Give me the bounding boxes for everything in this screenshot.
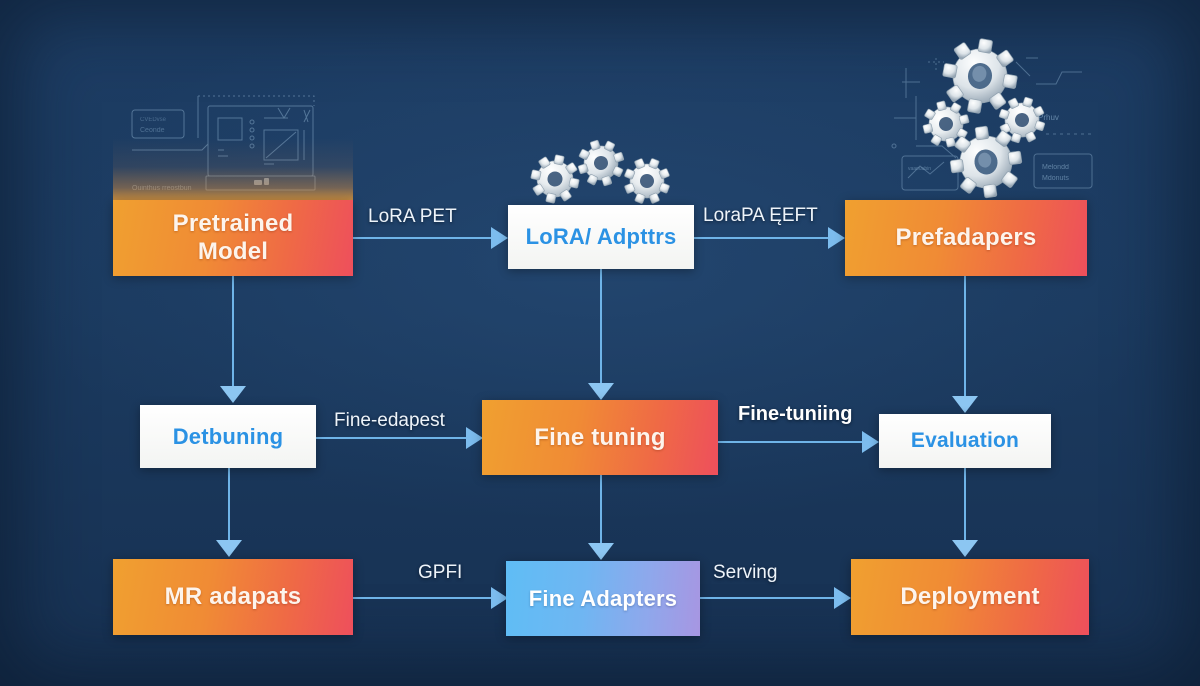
node-detbuning-label: Detbuning bbox=[173, 424, 284, 449]
connector-lora-to-finetuning bbox=[600, 269, 602, 385]
node-lora-adapters-label: LoRA/ Adpttrs bbox=[526, 224, 677, 249]
arrowhead-lora-to-prefadapers bbox=[828, 227, 845, 249]
connector-mradapats-to-fineadapters bbox=[353, 597, 493, 599]
connector-prefadapers-to-evaluation bbox=[964, 276, 966, 398]
connector-detbuning-to-mradapats bbox=[228, 468, 230, 542]
node-prefadapers-label: Prefadapers bbox=[896, 224, 1037, 252]
edge-label-lorapa-peft: LoraPA ĘEFT bbox=[703, 205, 818, 227]
node-evaluation[interactable]: Evaluation bbox=[879, 414, 1051, 468]
node-evaluation-label: Evaluation bbox=[911, 429, 1019, 453]
node-lora-adapters[interactable]: LoRA/ Adpttrs bbox=[508, 205, 694, 269]
node-mr-adapats-label: MR adapats bbox=[165, 583, 302, 611]
edge-label-fine-tuniing: Fine-tuniing bbox=[738, 403, 852, 426]
connector-evaluation-to-deployment bbox=[964, 468, 966, 542]
node-mr-adapats[interactable]: MR adapats bbox=[113, 559, 353, 635]
arrowhead-fineadapters-to-deployment bbox=[834, 587, 851, 609]
node-fine-tuning[interactable]: Fine tuning bbox=[482, 400, 718, 475]
edge-label-fine-edapest: Fine-edapest bbox=[334, 410, 445, 432]
node-deployment-label: Deployment bbox=[900, 583, 1039, 611]
connector-pretrained-to-lora bbox=[353, 237, 493, 239]
gradient-plume bbox=[113, 138, 353, 202]
connector-finetuning-to-fineadapters bbox=[600, 475, 602, 545]
connector-pretrained-to-detbuning bbox=[232, 276, 234, 388]
arrowhead-finetuning-to-fineadapters bbox=[588, 543, 614, 560]
arrowhead-lora-to-finetuning bbox=[588, 383, 614, 400]
arrowhead-finetuning-to-evaluation bbox=[862, 431, 879, 453]
arrowhead-detbuning-to-mradapats bbox=[216, 540, 242, 557]
connector-fineadapters-to-deployment bbox=[700, 597, 836, 599]
node-fine-adapters-label: Fine Adapters bbox=[529, 586, 677, 611]
connector-detbuning-to-finetuning bbox=[316, 437, 468, 439]
connector-finetuning-to-evaluation bbox=[718, 441, 864, 443]
arrowhead-prefadapers-to-evaluation bbox=[952, 396, 978, 413]
node-deployment[interactable]: Deployment bbox=[851, 559, 1089, 635]
arrowhead-pretrained-to-lora bbox=[491, 227, 508, 249]
connector-lora-to-prefadapers bbox=[694, 237, 830, 239]
node-prefadapers[interactable]: Prefadapers bbox=[845, 200, 1087, 276]
diagram-canvas: CVEDvse Ceonde Ouinthus rreostbun bbox=[0, 0, 1200, 686]
node-pretrained-model[interactable]: Pretrained Model bbox=[113, 200, 353, 276]
node-fine-adapters[interactable]: Fine Adapters bbox=[506, 561, 700, 636]
node-detbuning[interactable]: Detbuning bbox=[140, 405, 316, 468]
node-pretrained-model-label: Pretrained Model bbox=[173, 210, 294, 265]
arrowhead-evaluation-to-deployment bbox=[952, 540, 978, 557]
arrowhead-detbuning-to-finetuning bbox=[466, 427, 483, 449]
edge-label-serving: Serving bbox=[713, 562, 777, 584]
arrowhead-pretrained-to-detbuning bbox=[220, 386, 246, 403]
node-fine-tuning-label: Fine tuning bbox=[534, 424, 666, 452]
edge-label-lora-pet: LoRA PET bbox=[368, 206, 457, 228]
edge-label-gpfi: GPFI bbox=[418, 562, 462, 584]
